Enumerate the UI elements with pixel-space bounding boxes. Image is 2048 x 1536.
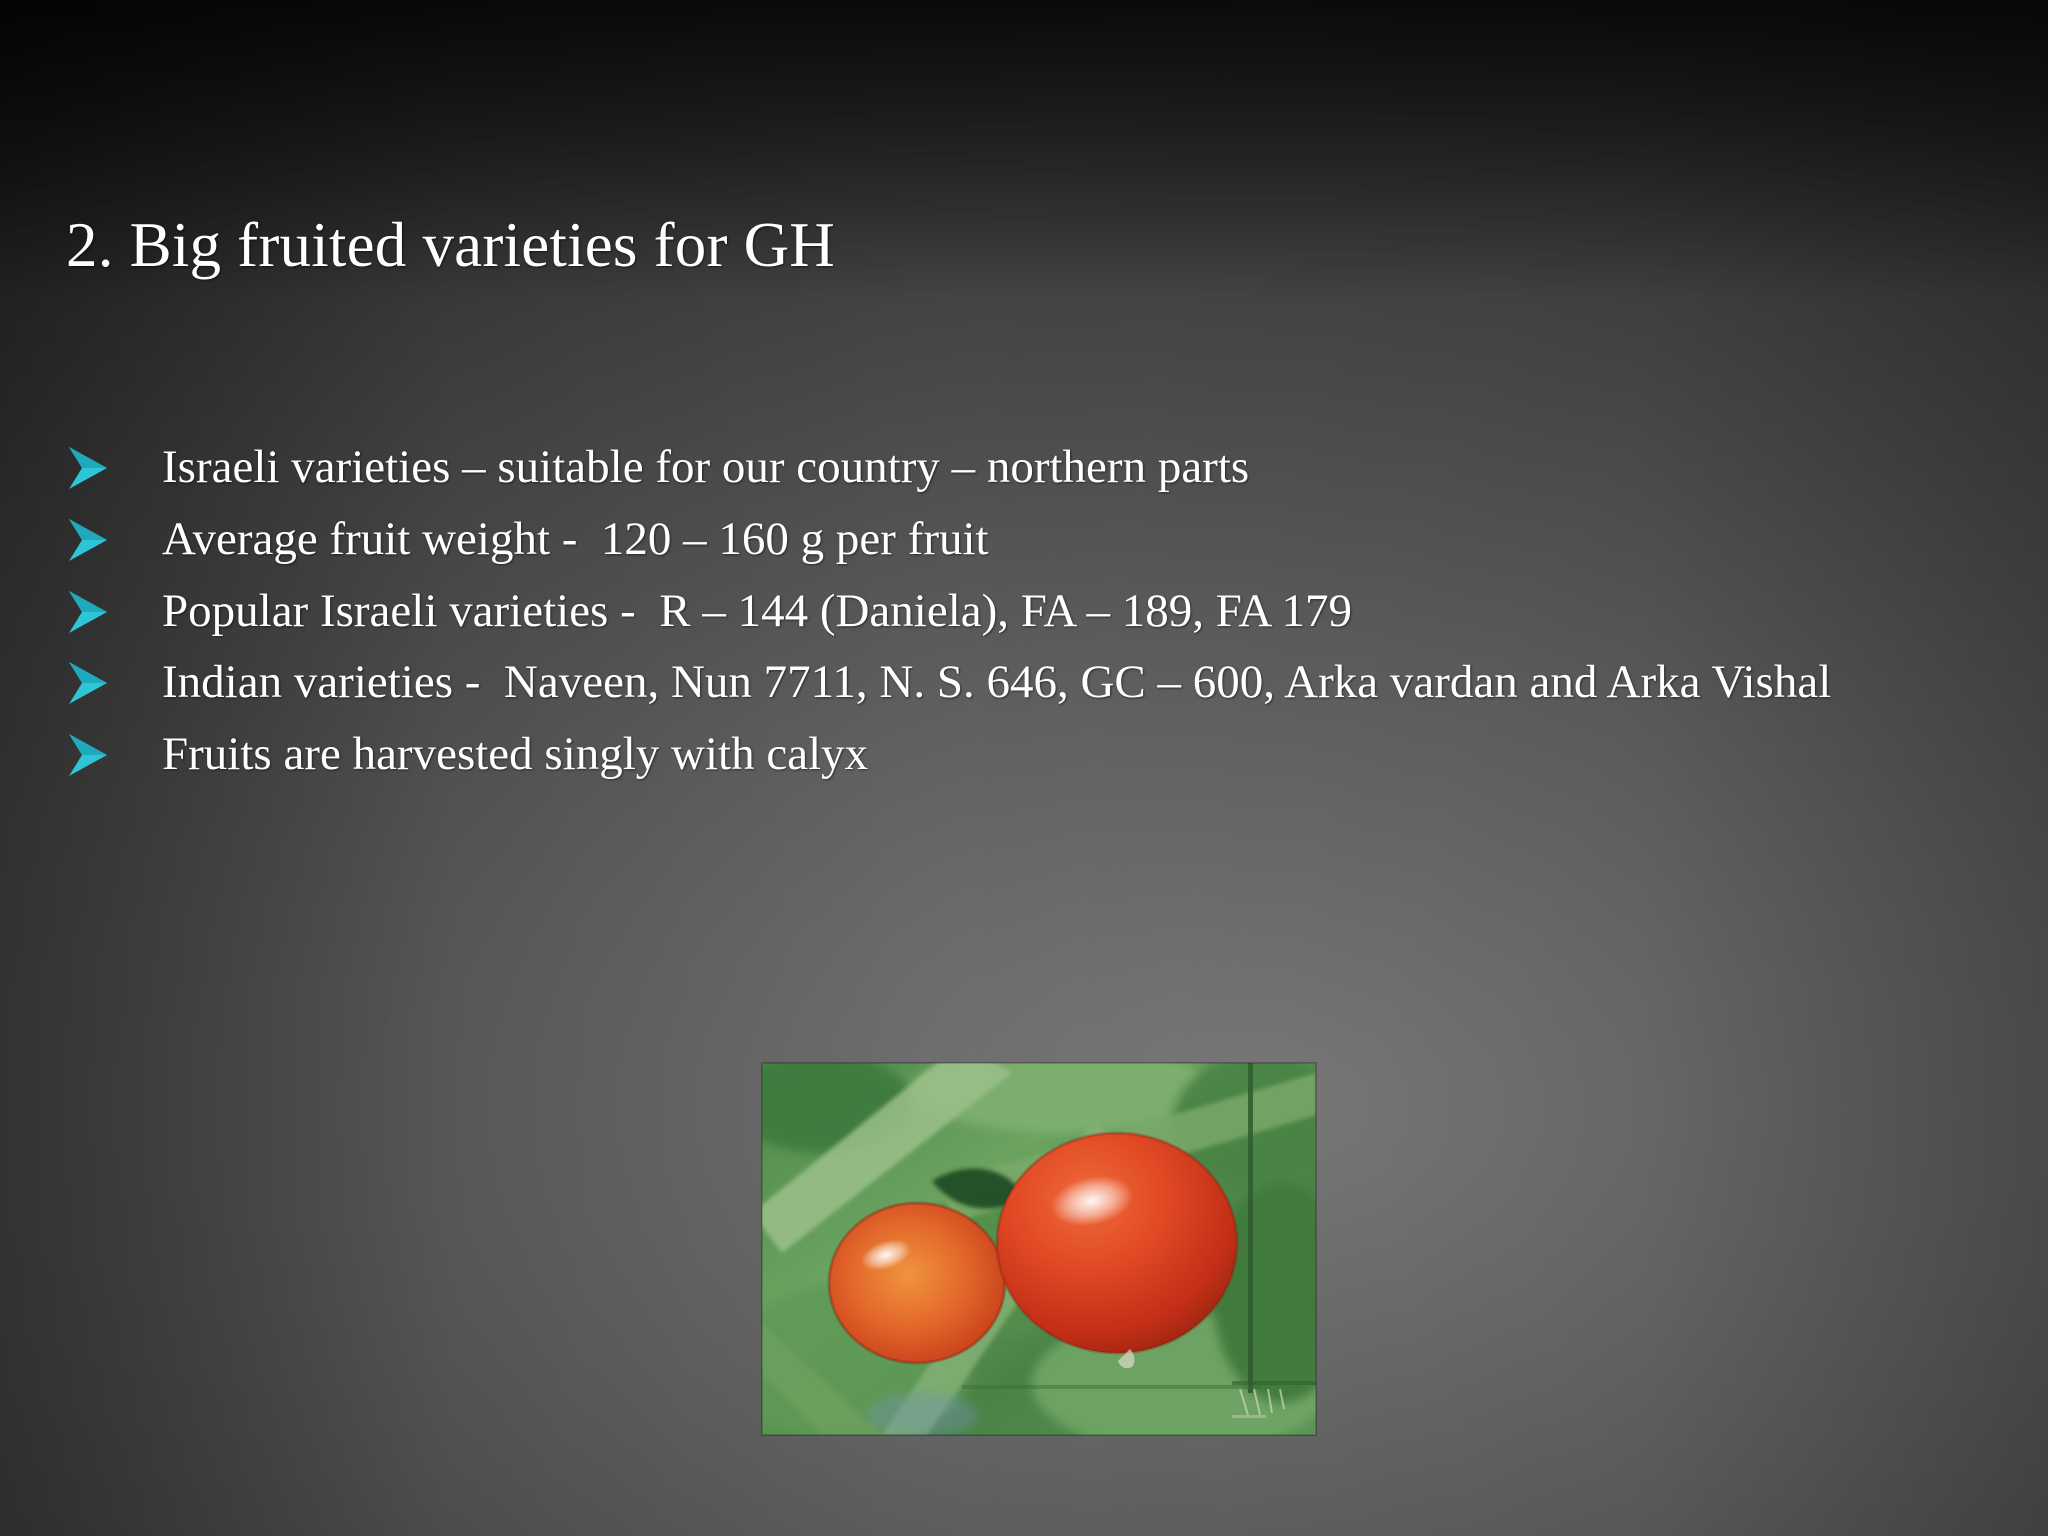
arrow-chevron-bullet-icon [66, 722, 162, 778]
bullet-list: Israeli varieties – suitable for our cou… [66, 435, 1996, 794]
presentation-slide: 2. Big fruited varieties for GH Israeli … [0, 0, 2048, 1536]
list-item: Popular Israeli varieties - R – 144 (Dan… [66, 579, 1996, 645]
list-item: Indian varieties - Naveen, Nun 7711, N. … [66, 650, 1996, 716]
arrow-chevron-bullet-icon [66, 579, 162, 635]
list-item-label: Israeli varieties – suitable for our cou… [162, 435, 1996, 501]
list-item: Fruits are harvested singly with calyx [66, 722, 1996, 788]
list-item-label: Average fruit weight - 120 – 160 g per f… [162, 507, 1996, 573]
list-item-label: Popular Israeli varieties - R – 144 (Dan… [162, 579, 1996, 645]
arrow-chevron-bullet-icon [66, 507, 162, 563]
arrow-chevron-bullet-icon [66, 435, 162, 491]
slide-title: 2. Big fruited varieties for GH [66, 212, 1866, 279]
list-item-label: Fruits are harvested singly with calyx [162, 722, 1996, 788]
list-item: Israeli varieties – suitable for our cou… [66, 435, 1996, 501]
arrow-chevron-bullet-icon [66, 650, 162, 706]
list-item: Average fruit weight - 120 – 160 g per f… [66, 507, 1996, 573]
tomato-plant-photo [762, 1063, 1316, 1435]
list-item-label: Indian varieties - Naveen, Nun 7711, N. … [162, 650, 1996, 716]
